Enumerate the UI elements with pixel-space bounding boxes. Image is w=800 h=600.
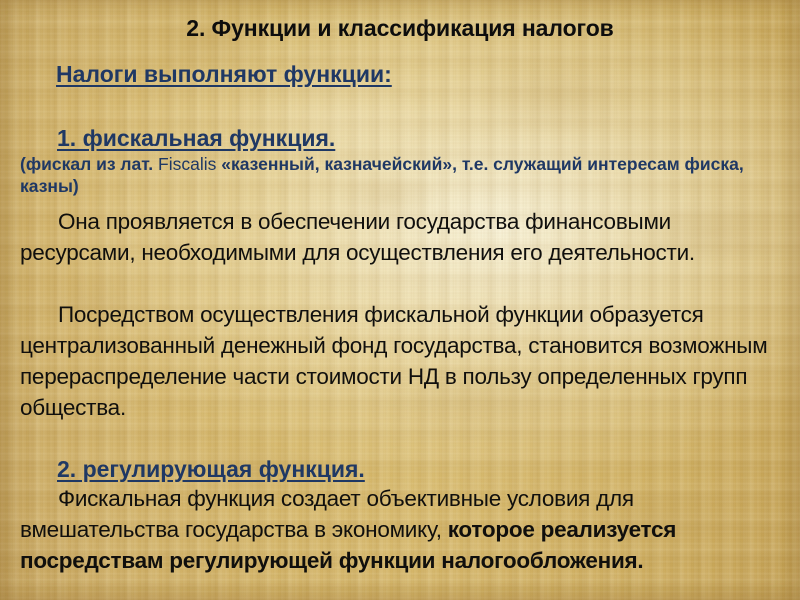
heading-taxes-perform-functions: Налоги выполняют функции: <box>56 60 392 88</box>
note-prefix: (фискал из лат. <box>20 154 158 174</box>
note-latin-term: Fiscalis <box>158 154 216 174</box>
slide-title: 2. Функции и классификация налогов <box>0 14 800 42</box>
slide-content: 2. Функции и классификация налогов Налог… <box>0 0 800 600</box>
heading-regulating-function: 2. регулирующая функция. <box>57 455 365 483</box>
paragraph-fiscal-first: Она проявляется в обеспечении государств… <box>20 206 782 268</box>
heading-fiscal-function: 1. фискальная функция. <box>57 124 335 152</box>
paragraph-fiscal-second: Посредством осуществления фискальной фун… <box>20 299 782 423</box>
note-fiscal-etymology: (фискал из лат. Fiscalis «казенный, казн… <box>20 153 768 197</box>
presentation-slide: 2. Функции и классификация налогов Налог… <box>0 0 800 600</box>
paragraph-regulating-first: Фискальная функция создает объективные у… <box>20 483 782 576</box>
